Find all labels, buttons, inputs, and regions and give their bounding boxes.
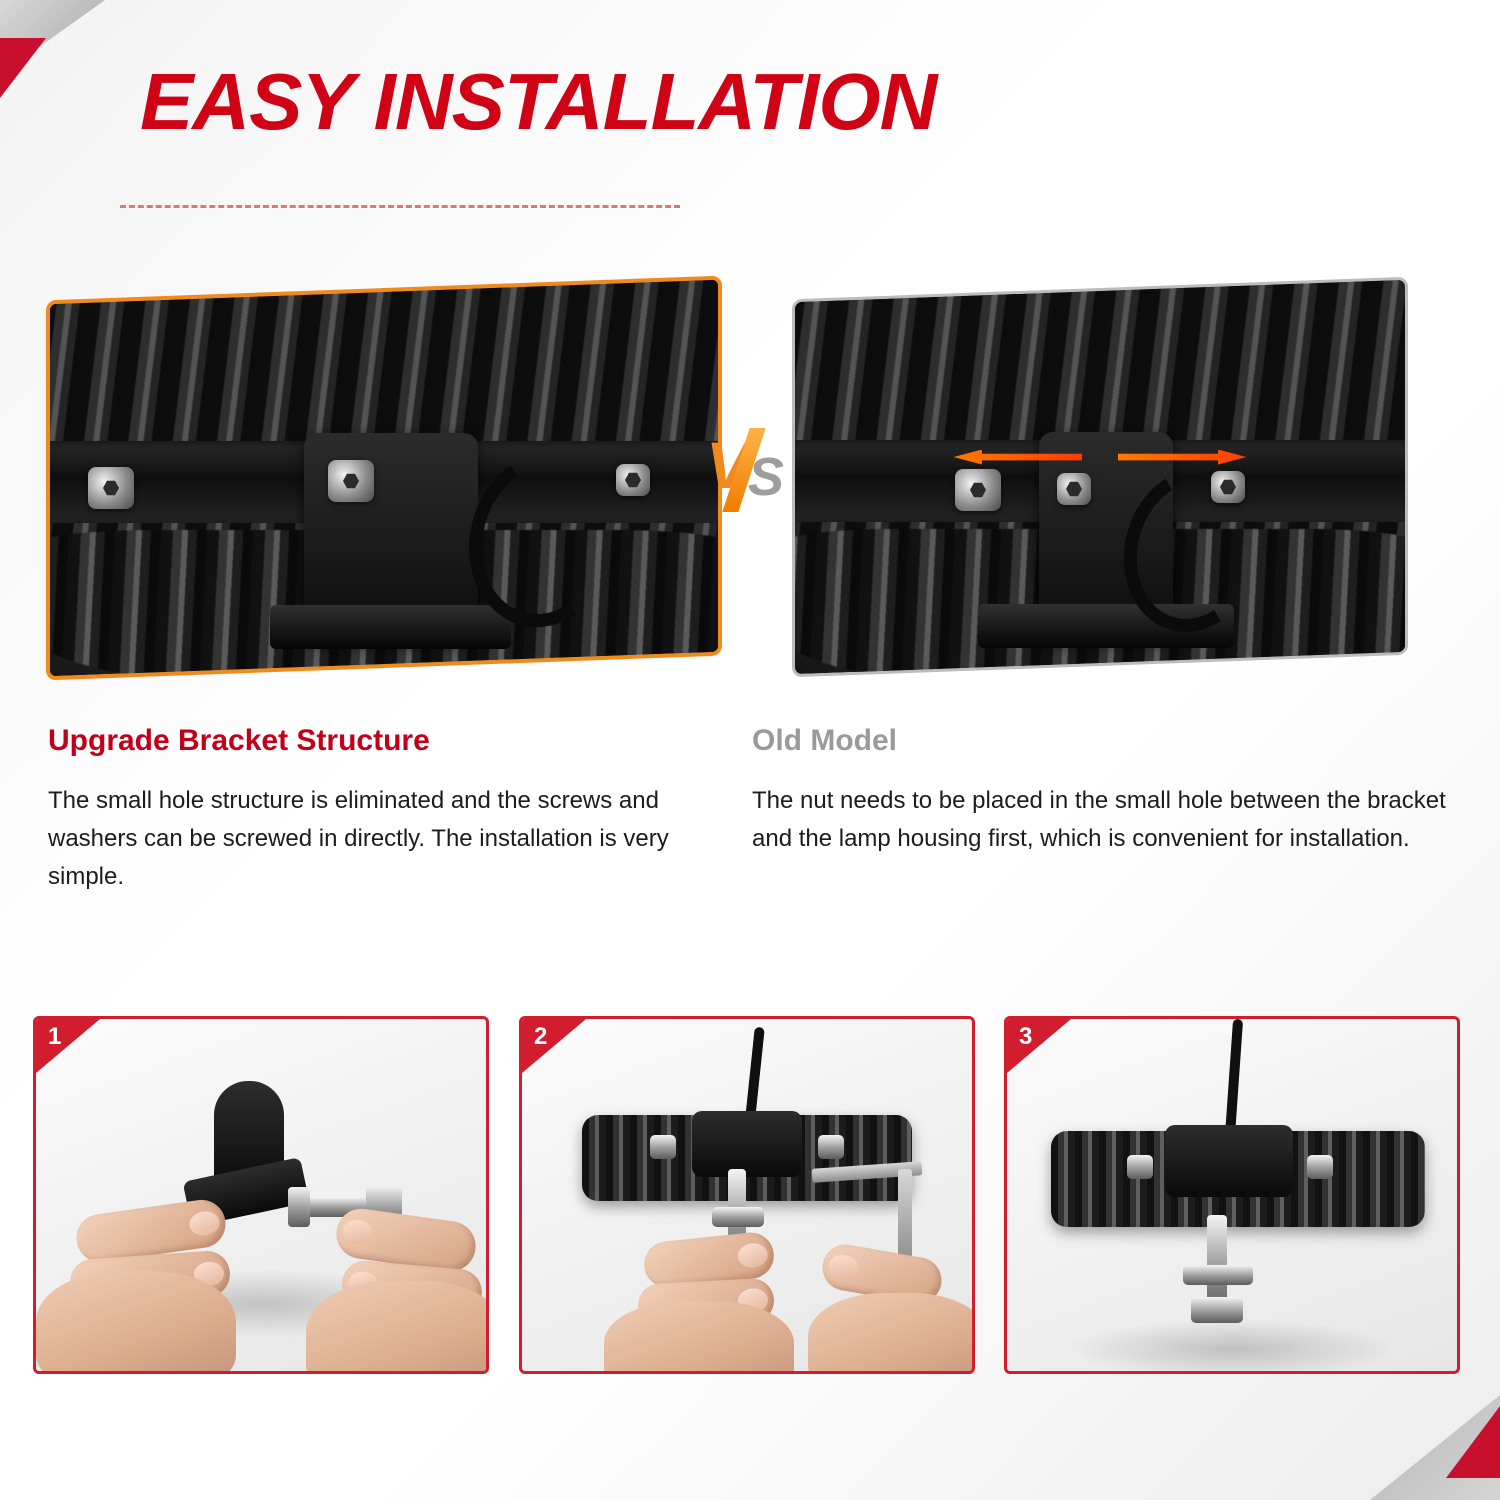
step-number: 2 — [534, 1023, 547, 1051]
nut-icon — [955, 469, 1001, 511]
step-card-1: 1 — [33, 1016, 489, 1374]
bolt-icon — [818, 1135, 844, 1159]
step-badge — [1007, 1019, 1071, 1073]
power-cable — [1225, 1019, 1243, 1137]
hand-left — [36, 1271, 236, 1374]
old-model-column-body: The nut needs to be placed in the small … — [752, 782, 1452, 858]
upgrade-column-title: Upgrade Bracket Structure — [48, 724, 430, 757]
promo-page: EASY INSTALLATION V S — [0, 0, 1500, 1500]
bolt-icon — [1307, 1155, 1333, 1179]
step-badge — [36, 1019, 100, 1073]
step-number: 1 — [48, 1023, 61, 1051]
arrow-right-icon — [1118, 450, 1247, 465]
bolt-icon — [616, 464, 650, 496]
bolt-icon — [650, 1135, 676, 1159]
washer-icon — [1183, 1265, 1253, 1285]
step-number: 3 — [1019, 1023, 1032, 1051]
page-title: EASY INSTALLATION — [140, 62, 936, 142]
hand-right — [306, 1281, 489, 1374]
old-model-column-title: Old Model — [752, 724, 897, 757]
bolt-icon — [1127, 1155, 1153, 1179]
hand-right — [808, 1293, 975, 1374]
power-cable — [745, 1027, 765, 1120]
upgraded-bracket-photo — [46, 276, 722, 681]
title-divider — [120, 205, 680, 208]
allen-key-arm — [898, 1169, 912, 1261]
screw-icon — [1057, 473, 1091, 505]
hand-left — [604, 1301, 794, 1374]
mounting-bracket — [692, 1111, 802, 1177]
bracket-foot — [270, 605, 510, 650]
arrow-left-icon — [954, 450, 1083, 465]
old-model-bracket-photo — [792, 277, 1408, 678]
step-card-3: 3 — [1004, 1016, 1460, 1374]
step-badge — [522, 1019, 586, 1073]
upgrade-column-body: The small hole structure is eliminated a… — [48, 782, 672, 896]
mounting-bracket — [1165, 1125, 1293, 1197]
corner-accent-top-left-red — [0, 38, 46, 98]
washer-icon — [288, 1187, 310, 1227]
drop-shadow — [1067, 1319, 1397, 1374]
bolt-icon — [88, 467, 134, 509]
vs-badge: V S — [706, 432, 802, 524]
bolt-icon — [328, 460, 374, 502]
washer-icon — [712, 1207, 764, 1227]
step-card-2: 2 — [519, 1016, 975, 1374]
vs-badge-s: S — [748, 450, 784, 504]
